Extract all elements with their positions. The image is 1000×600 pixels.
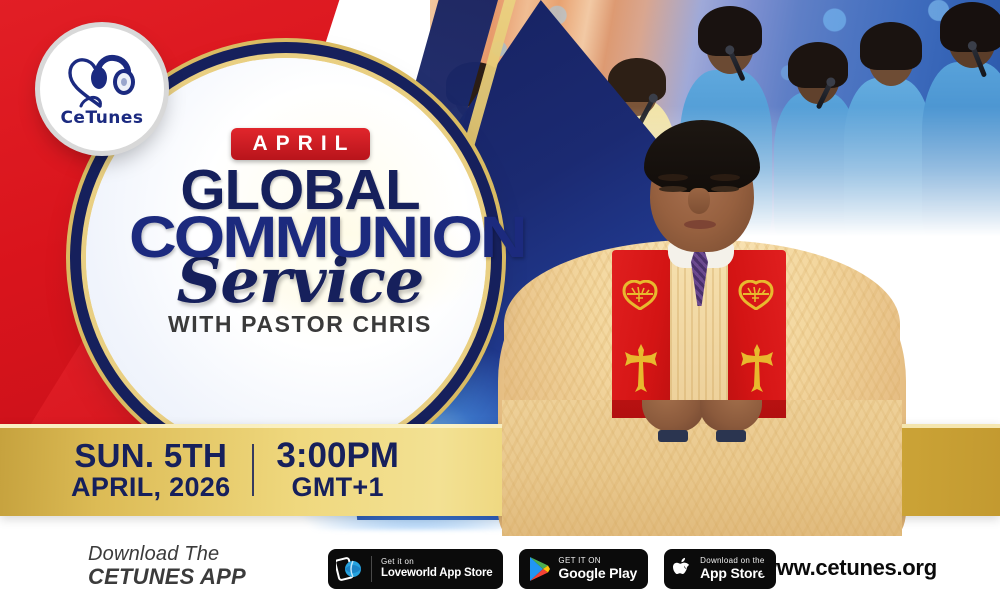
badge-text-group: Download on the App Store [700,557,765,582]
badge-big-text: App Store [700,566,765,582]
app-store-badges: Get it on Loveworld App Store GET IT ON … [328,549,776,589]
gold-emblem-icon [738,280,774,310]
pastor-nose [688,188,710,214]
choir-singer [860,22,922,70]
badge-small-text: Get it on [381,558,492,567]
choir-singer [922,62,1000,236]
gold-cross-icon [737,342,777,394]
schedule-content: SUN. 5TH APRIL, 2026 3:00PM GMT+1 [0,424,470,516]
shirt-cuff-right [716,430,746,442]
download-prompt: Download The CETUNES APP [88,543,246,590]
google-play-icon [527,556,551,582]
loveworld-app-store-badge[interactable]: Get it on Loveworld App Store [328,549,503,589]
eyebrow [710,174,740,181]
download-prompt-line2: CETUNES APP [88,565,246,590]
cetunes-logo-text: CeTunes [60,108,143,128]
event-date-month: APRIL, 2026 [71,473,230,501]
loveworld-globe-icon [336,555,362,583]
pastor-hair [644,120,760,192]
pastor-foreground-overlay [492,400,912,540]
schedule-divider [252,444,254,496]
badge-separator [371,556,372,582]
headline-subtitle: WITH PASTOR CHRIS [150,311,450,338]
pastor-mouth [684,220,716,229]
poster-canvas: APRIL GLOBAL COMMUNION Service WITH PAST… [0,0,1000,600]
badge-big-text: Loveworld App Store [381,567,492,580]
event-time-zone: GMT+1 [276,473,399,502]
cetunes-logo[interactable]: CeTunes [40,27,164,151]
gold-emblem-icon [622,280,658,310]
event-date-day: SUN. 5TH [71,439,230,473]
headline-line-communion: COMMUNION [129,212,471,263]
website-url[interactable]: www.cetunes.org [760,555,937,581]
shirt-cuff-left [658,430,688,442]
choir-singer [788,42,848,88]
closed-eye [711,186,739,192]
apple-logo-icon [672,556,693,582]
event-time-clock: 3:00PM [276,438,399,474]
badge-big-text: Google Play [558,566,637,582]
event-time: 3:00PM GMT+1 [276,438,399,503]
closed-eye [659,186,687,192]
download-prompt-line1: Download The [88,543,246,565]
gold-cross-icon [621,342,661,394]
badge-text-group: GET IT ON Google Play [558,557,637,582]
headline-block: APRIL GLOBAL COMMUNION Service WITH PAST… [150,128,450,338]
month-badge: APRIL [231,128,370,160]
badge-text-group: Get it on Loveworld App Store [381,558,492,580]
event-date: SUN. 5TH APRIL, 2026 [71,439,230,501]
cetunes-heart-headphones-icon [62,50,142,112]
eyebrow [658,174,688,181]
google-play-badge[interactable]: GET IT ON Google Play [519,549,648,589]
